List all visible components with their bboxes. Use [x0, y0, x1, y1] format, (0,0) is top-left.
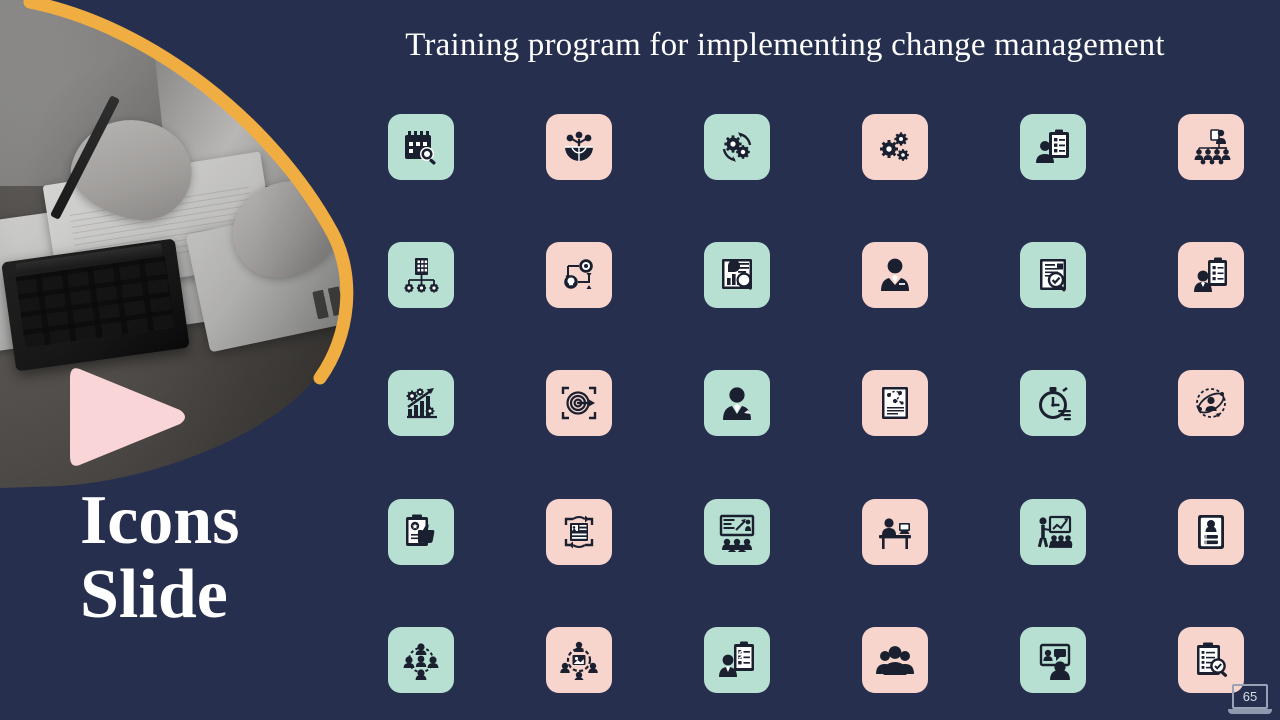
- profile-list-document-icon: [1191, 512, 1231, 552]
- gears-settings-icon: [875, 127, 915, 167]
- growth-chart-gears-icon: [401, 383, 441, 423]
- icon-tile-target-arrow-focus[interactable]: [546, 370, 612, 436]
- document-refresh-cycle-icon: [559, 512, 599, 552]
- icon-tile-gears-cycle[interactable]: [704, 114, 770, 180]
- video-conference-icon: [1033, 640, 1073, 680]
- person-orbit-network-icon: [1191, 383, 1231, 423]
- building-hierarchy-gears-icon: [401, 255, 441, 295]
- icon-tile-clipboard-magnifier-review[interactable]: [1178, 627, 1244, 693]
- page-number-badge: 65: [1228, 684, 1272, 716]
- presentation-audience-icon: [717, 512, 757, 552]
- icon-tile-person-orbit-network[interactable]: [1178, 370, 1244, 436]
- heading-line-1: Icons: [80, 484, 380, 558]
- page-title: Training program for implementing change…: [360, 26, 1210, 66]
- icon-tile-person-clipboard-tasks[interactable]: [1178, 242, 1244, 308]
- clipboard-magnifier-review-icon: [1191, 640, 1231, 680]
- strategy-document-icon: [875, 383, 915, 423]
- icon-tile-team-collaboration-cycle[interactable]: [546, 627, 612, 693]
- clipboard-thumbs-up-icon: [401, 512, 441, 552]
- person-clipboard-tasks-icon: [1191, 255, 1231, 295]
- icon-tile-document-verified-magnifier[interactable]: [1020, 242, 1086, 308]
- document-verified-magnifier-icon: [1033, 255, 1073, 295]
- icon-tile-stopwatch-speed[interactable]: [1020, 370, 1086, 436]
- icon-tile-professional-person[interactable]: [704, 370, 770, 436]
- icon-tile-clipboard-thumbs-up[interactable]: [388, 499, 454, 565]
- icon-grid: [388, 114, 1240, 694]
- gears-cycle-icon: [717, 127, 757, 167]
- icon-tile-globe-network[interactable]: [546, 114, 612, 180]
- icon-tile-trainer-chart-audience[interactable]: [1020, 499, 1086, 565]
- icon-tile-idea-target-flow[interactable]: [546, 242, 612, 308]
- laptop-screen-icon: 65: [1232, 684, 1268, 709]
- icon-tile-video-conference[interactable]: [1020, 627, 1086, 693]
- icon-tile-desk-workstation[interactable]: [862, 499, 928, 565]
- icon-tile-gears-settings[interactable]: [862, 114, 928, 180]
- icon-tile-person-checklist-board[interactable]: [704, 627, 770, 693]
- person-checklist-icon: [1033, 127, 1073, 167]
- person-checklist-board-icon: [717, 640, 757, 680]
- icon-tile-group-people[interactable]: [862, 627, 928, 693]
- stopwatch-speed-icon: [1033, 383, 1073, 423]
- icon-tile-org-chart-presenter[interactable]: [1178, 114, 1244, 180]
- group-people-icon: [875, 640, 915, 680]
- heading-line-2: Slide: [80, 558, 380, 632]
- target-arrow-focus-icon: [559, 383, 599, 423]
- businessman-avatar-icon: [875, 255, 915, 295]
- play-triangle-decoration: [62, 352, 197, 482]
- icon-tile-growth-chart-gears[interactable]: [388, 370, 454, 436]
- team-network-circle-icon: [401, 640, 441, 680]
- professional-person-icon: [717, 383, 757, 423]
- icon-tile-businessman-avatar[interactable]: [862, 242, 928, 308]
- icon-tile-profile-list-document[interactable]: [1178, 499, 1244, 565]
- trainer-chart-audience-icon: [1033, 512, 1073, 552]
- laptop-base-icon: [1228, 709, 1272, 714]
- icon-tile-report-analysis-magnifier[interactable]: [704, 242, 770, 308]
- page-number: 65: [1243, 689, 1257, 704]
- icon-tile-team-network-circle[interactable]: [388, 627, 454, 693]
- icon-tile-strategy-document[interactable]: [862, 370, 928, 436]
- team-collaboration-cycle-icon: [559, 640, 599, 680]
- icon-tile-building-hierarchy-gears[interactable]: [388, 242, 454, 308]
- org-chart-presenter-icon: [1191, 127, 1231, 167]
- icon-tile-calendar-search[interactable]: [388, 114, 454, 180]
- icon-tile-person-checklist[interactable]: [1020, 114, 1086, 180]
- calendar-search-icon: [401, 127, 441, 167]
- idea-target-flow-icon: [559, 255, 599, 295]
- icon-tile-document-refresh-cycle[interactable]: [546, 499, 612, 565]
- desk-workstation-icon: [875, 512, 915, 552]
- report-analysis-magnifier-icon: [717, 255, 757, 295]
- icon-tile-presentation-audience[interactable]: [704, 499, 770, 565]
- globe-network-icon: [559, 127, 599, 167]
- slide-heading: Icons Slide: [80, 484, 380, 632]
